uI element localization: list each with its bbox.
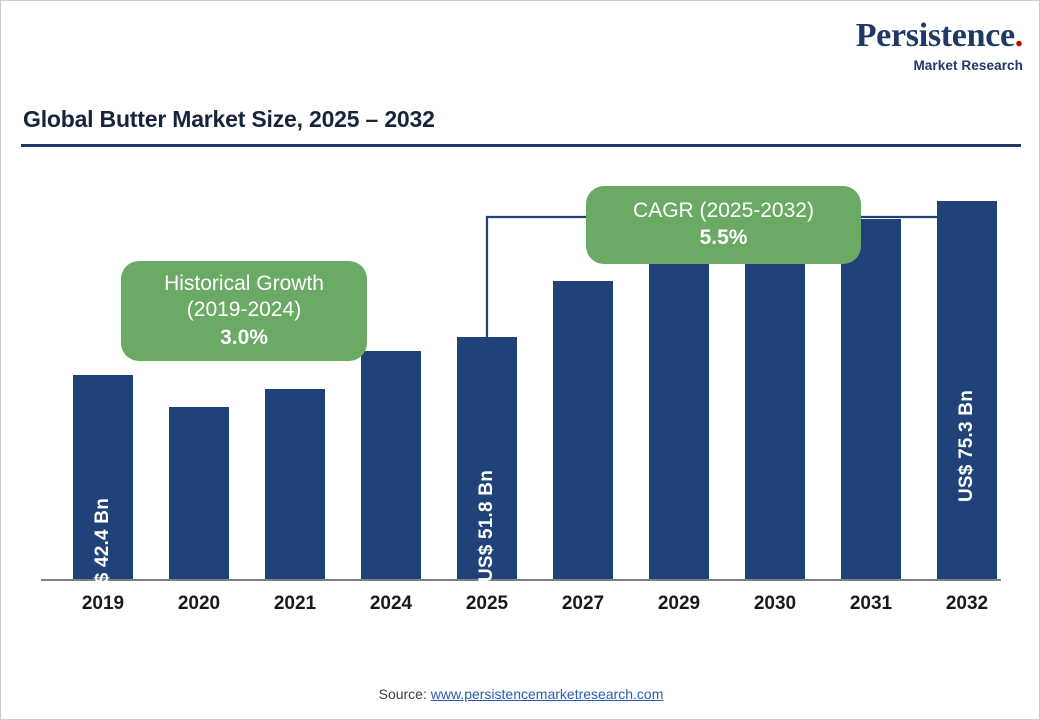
source-link[interactable]: www.persistencemarketresearch.com — [431, 686, 664, 702]
bar-slot-2025: US$ 51.8 Bn — [439, 161, 535, 579]
bar-chart: US$ 42.4 Bn US$ 51.8 Bn — [41, 161, 1001, 621]
bar-2019[interactable]: US$ 42.4 Bn — [73, 375, 133, 579]
bar-slot-2024 — [343, 161, 439, 579]
logo-brand-text: Persistence. — [856, 19, 1023, 53]
x-tick-2032: 2032 — [919, 593, 1015, 615]
x-tick-2025: 2025 — [439, 593, 535, 615]
bar-2030[interactable] — [745, 239, 805, 579]
bar-slot-2019: US$ 42.4 Bn — [55, 161, 151, 579]
page-title: Global Butter Market Size, 2025 – 2032 — [23, 106, 435, 133]
x-tick-2024: 2024 — [343, 593, 439, 615]
bar-2031[interactable] — [841, 219, 901, 579]
bar-slot-2021 — [247, 161, 343, 579]
bar-label-2032: US$ 75.3 Bn — [956, 390, 978, 502]
bar-2021[interactable] — [265, 389, 325, 579]
logo-subtitle-text: Market Research — [856, 59, 1023, 73]
x-tick-2030: 2030 — [727, 593, 823, 615]
bar-2024[interactable] — [361, 351, 421, 579]
callout-cagr-value: 5.5% — [700, 224, 748, 251]
bar-2032[interactable]: US$ 75.3 Bn — [937, 201, 997, 579]
chart-baseline — [41, 579, 1001, 581]
callout-historical-line1: Historical Growth — [164, 271, 324, 297]
title-divider — [21, 144, 1021, 147]
callout-historical-value: 3.0% — [220, 324, 268, 351]
bar-slot-2032: US$ 75.3 Bn — [919, 161, 1015, 579]
x-tick-2029: 2029 — [631, 593, 727, 615]
x-tick-2031: 2031 — [823, 593, 919, 615]
bar-2029[interactable] — [649, 259, 709, 579]
callout-historical-growth: Historical Growth (2019-2024) 3.0% — [121, 261, 367, 361]
x-tick-2020: 2020 — [151, 593, 247, 615]
x-tick-2019: 2019 — [55, 593, 151, 615]
callout-cagr-line1: CAGR (2025-2032) — [633, 198, 814, 224]
bar-2020[interactable] — [169, 407, 229, 579]
bar-label-2025: US$ 51.8 Bn — [476, 470, 498, 582]
chart-infographic: Persistence. Market Research Global Butt… — [0, 0, 1040, 720]
callout-cagr: CAGR (2025-2032) 5.5% — [586, 186, 861, 264]
bar-2027[interactable] — [553, 281, 613, 579]
bar-slot-2020 — [151, 161, 247, 579]
x-tick-2021: 2021 — [247, 593, 343, 615]
source-prefix: Source: — [379, 686, 431, 702]
x-tick-2027: 2027 — [535, 593, 631, 615]
company-logo: Persistence. Market Research — [856, 19, 1023, 73]
source-note: Source: www.persistencemarketresearch.co… — [1, 686, 1040, 702]
bar-2025[interactable]: US$ 51.8 Bn — [457, 337, 517, 579]
callout-historical-line2: (2019-2024) — [187, 297, 301, 323]
